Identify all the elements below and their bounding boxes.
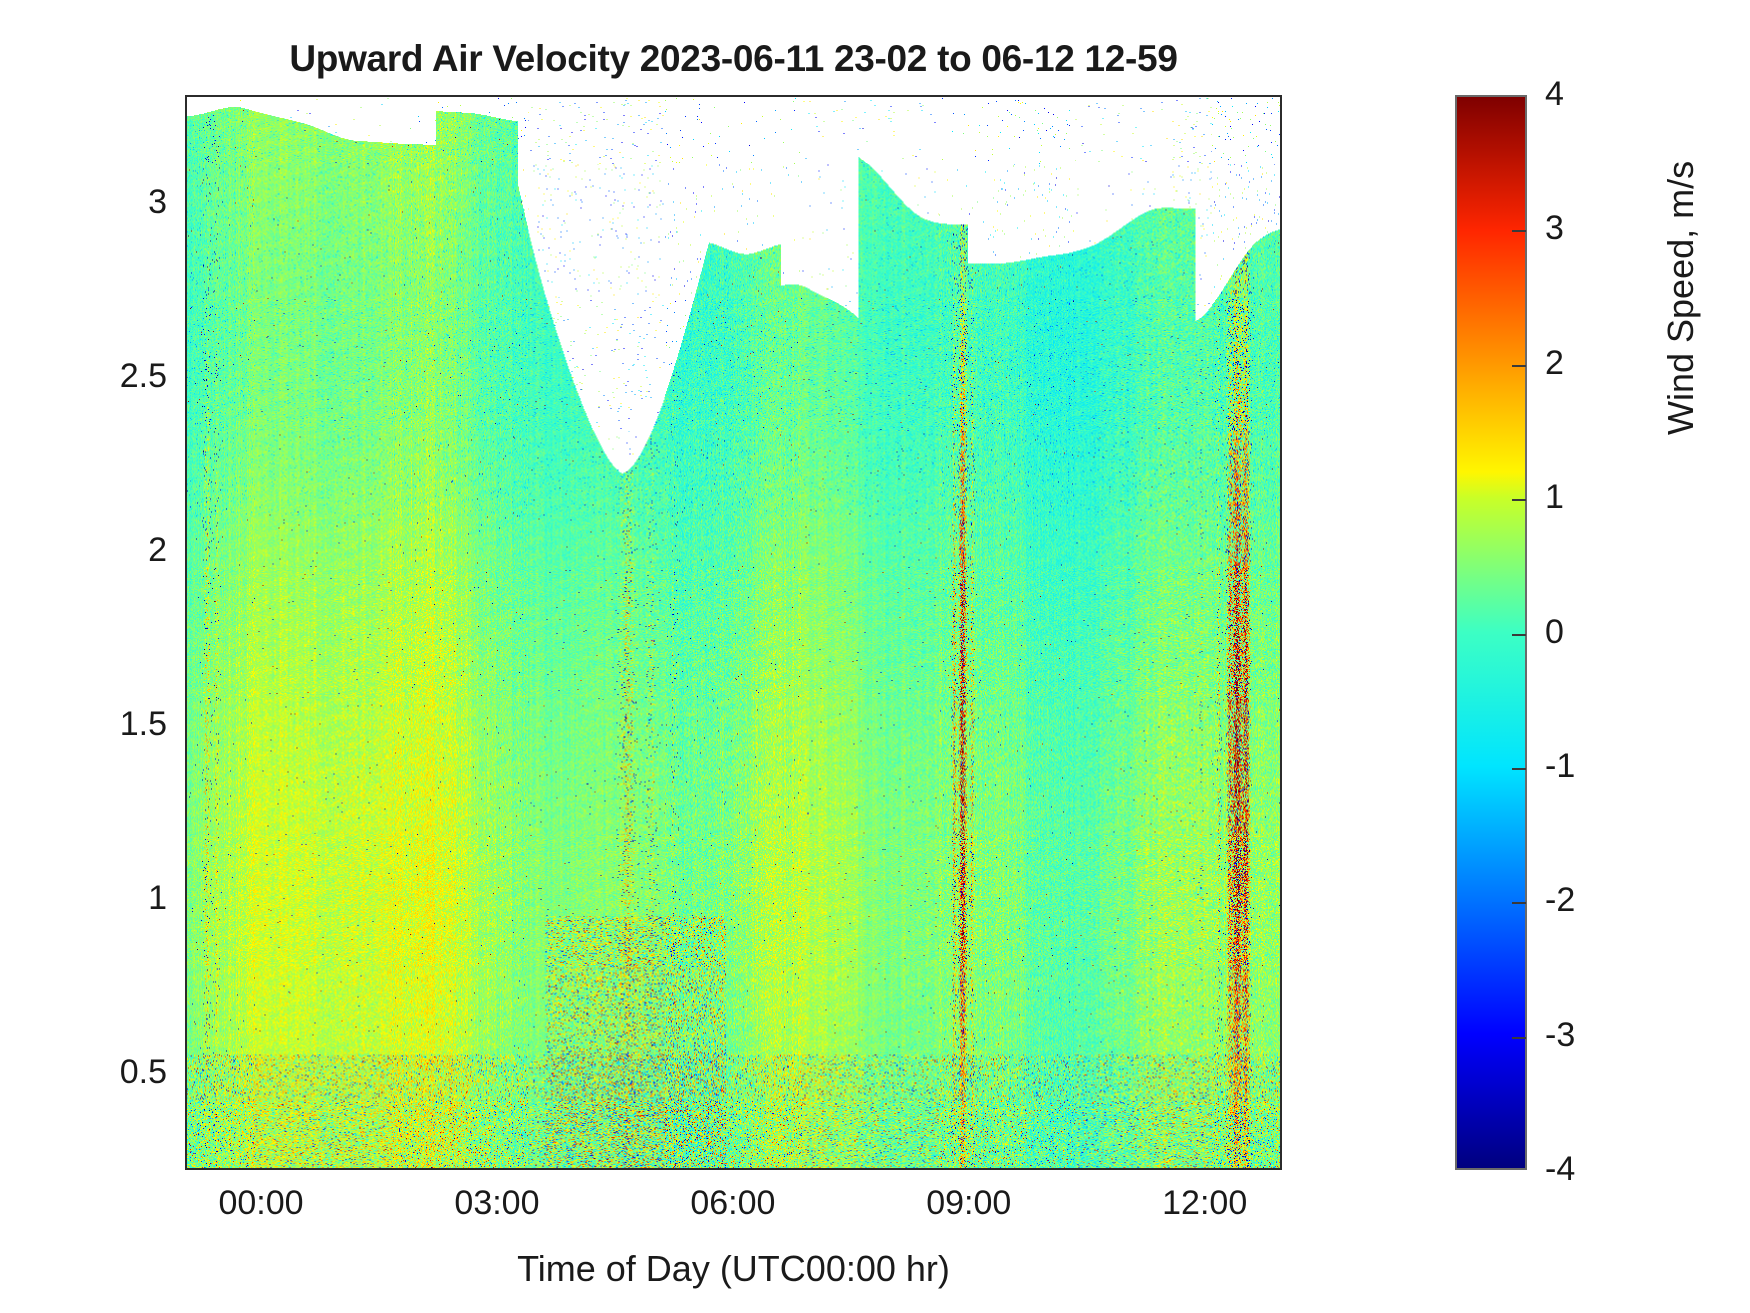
colorbar-tick-label: 0	[1545, 615, 1665, 649]
y-tick-label: 3	[47, 185, 167, 219]
y-tick-mark	[1280, 204, 1282, 206]
plot-axes	[185, 95, 1282, 1170]
x-tick-mark	[498, 1168, 500, 1170]
y-tick-mark	[185, 1074, 187, 1076]
colorbar-tick-mark	[1512, 230, 1526, 232]
x-tick-label: 03:00	[397, 1185, 597, 1221]
figure-upward-air-velocity: Upward Air Velocity 2023-06-11 23-02 to …	[0, 0, 1750, 1313]
colorbar-tick-label: -3	[1545, 1018, 1665, 1052]
colorbar-tick-label: -4	[1545, 1152, 1665, 1186]
y-tick-mark	[185, 552, 187, 554]
heatmap-raster	[187, 97, 1280, 1168]
x-tick-label: 06:00	[633, 1185, 833, 1221]
colorbar-tick-mark	[1512, 634, 1526, 636]
colorbar-gradient	[1457, 97, 1525, 1168]
colorbar-label: Wind Speed, m/s	[1660, 161, 1702, 435]
x-tick-label: 12:00	[1105, 1185, 1305, 1221]
colorbar	[1455, 95, 1527, 1170]
colorbar-tick-label: -1	[1545, 749, 1665, 783]
colorbar-tick-label: 4	[1545, 77, 1665, 111]
colorbar-tick-label: -2	[1545, 883, 1665, 917]
y-tick-label: 0.5	[47, 1055, 167, 1089]
x-axis-label: Time of Day (UTC00:00 hr)	[185, 1248, 1282, 1290]
y-tick-label: 1.5	[47, 707, 167, 741]
y-tick-label: 2.5	[47, 359, 167, 393]
colorbar-tick-mark	[1512, 365, 1526, 367]
colorbar-tick-mark	[1512, 768, 1526, 770]
y-tick-mark	[185, 900, 187, 902]
y-tick-mark	[185, 378, 187, 380]
x-tick-mark	[262, 1168, 264, 1170]
colorbar-tick-mark	[1512, 499, 1526, 501]
heatmap-canvas-container	[187, 97, 1280, 1168]
colorbar-tick-mark	[1512, 902, 1526, 904]
colorbar-tick-mark	[1512, 1037, 1526, 1039]
y-tick-label: 2	[47, 533, 167, 567]
y-tick-label: 1	[47, 881, 167, 915]
y-tick-mark	[1280, 552, 1282, 554]
y-tick-mark	[1280, 900, 1282, 902]
x-tick-mark	[262, 95, 264, 97]
x-tick-mark	[1206, 95, 1208, 97]
x-tick-label: 09:00	[869, 1185, 1069, 1221]
y-tick-mark	[185, 726, 187, 728]
y-tick-mark	[1280, 378, 1282, 380]
colorbar-tick-label: 3	[1545, 211, 1665, 245]
x-tick-mark	[1206, 1168, 1208, 1170]
x-tick-label: 00:00	[161, 1185, 361, 1221]
colorbar-tick-label: 1	[1545, 480, 1665, 514]
x-tick-mark	[970, 1168, 972, 1170]
x-tick-mark	[498, 95, 500, 97]
chart-title: Upward Air Velocity 2023-06-11 23-02 to …	[185, 38, 1282, 80]
x-tick-mark	[734, 95, 736, 97]
y-tick-mark	[1280, 1074, 1282, 1076]
x-tick-mark	[970, 95, 972, 97]
y-tick-mark	[185, 204, 187, 206]
y-tick-mark	[1280, 726, 1282, 728]
colorbar-tick-label: 2	[1545, 346, 1665, 380]
x-tick-mark	[734, 1168, 736, 1170]
